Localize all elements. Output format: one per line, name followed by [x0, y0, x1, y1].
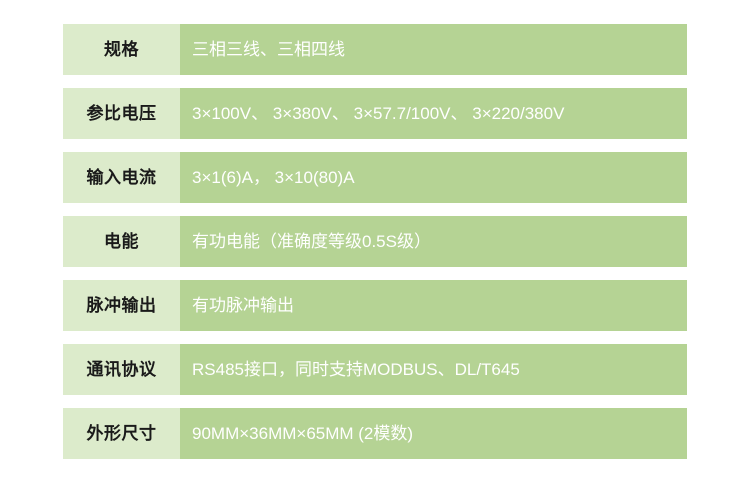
table-row: 脉冲输出 有功脉冲输出 — [63, 280, 687, 331]
table-row: 输入电流 3×1(6)A， 3×10(80)A — [63, 152, 687, 203]
spec-value-cell: 有功电能（准确度等级0.5S级） — [180, 216, 687, 267]
spec-value-cell: 3×100V、 3×380V、 3×57.7/100V、 3×220/380V — [180, 88, 687, 139]
spec-value-cell: 3×1(6)A， 3×10(80)A — [180, 152, 687, 203]
spec-label-cell: 参比电压 — [63, 88, 180, 139]
table-row: 外形尺寸 90MM×36MM×65MM (2模数) — [63, 408, 687, 459]
spec-value-text: RS485接口，同时支持MODBUS、DL/T645 — [192, 361, 520, 378]
spec-label-text: 外形尺寸 — [87, 425, 157, 442]
spec-label-cell: 电能 — [63, 216, 180, 267]
table-row: 参比电压 3×100V、 3×380V、 3×57.7/100V、 3×220/… — [63, 88, 687, 139]
spec-label-cell: 通讯协议 — [63, 344, 180, 395]
spec-label-cell: 脉冲输出 — [63, 280, 180, 331]
spec-label-text: 通讯协议 — [87, 361, 157, 378]
spec-value-text: 3×1(6)A， 3×10(80)A — [192, 169, 355, 186]
spec-label-text: 电能 — [104, 233, 139, 250]
spec-label-cell: 规格 — [63, 24, 180, 75]
spec-label-text: 输入电流 — [87, 169, 157, 186]
specification-table: 规格 三相三线、三相四线 参比电压 3×100V、 3×380V、 3×57.7… — [63, 24, 687, 459]
table-row: 规格 三相三线、三相四线 — [63, 24, 687, 75]
spec-value-text: 有功脉冲输出 — [192, 297, 294, 314]
spec-value-text: 3×100V、 3×380V、 3×57.7/100V、 3×220/380V — [192, 105, 564, 122]
spec-label-cell: 外形尺寸 — [63, 408, 180, 459]
table-row: 电能 有功电能（准确度等级0.5S级） — [63, 216, 687, 267]
spec-value-cell: RS485接口，同时支持MODBUS、DL/T645 — [180, 344, 687, 395]
spec-value-cell: 90MM×36MM×65MM (2模数) — [180, 408, 687, 459]
spec-value-text: 三相三线、三相四线 — [192, 41, 345, 58]
spec-value-text: 有功电能（准确度等级0.5S级） — [192, 233, 431, 250]
spec-value-cell: 三相三线、三相四线 — [180, 24, 687, 75]
spec-value-text: 90MM×36MM×65MM (2模数) — [192, 425, 413, 442]
spec-label-text: 脉冲输出 — [87, 297, 157, 314]
spec-value-cell: 有功脉冲输出 — [180, 280, 687, 331]
table-row: 通讯协议 RS485接口，同时支持MODBUS、DL/T645 — [63, 344, 687, 395]
spec-label-text: 规格 — [104, 41, 139, 58]
spec-label-text: 参比电压 — [87, 105, 157, 122]
spec-label-cell: 输入电流 — [63, 152, 180, 203]
